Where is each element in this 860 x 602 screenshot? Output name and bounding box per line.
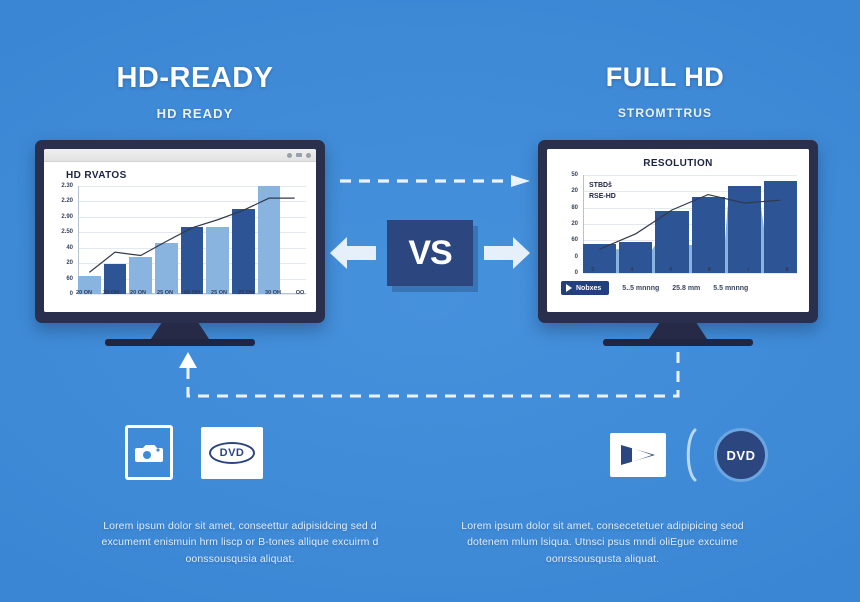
right-screen: RESOLUTION STBDš RSE-HD 502080206000 044…	[547, 149, 809, 312]
right-x-axis-labels: 0448ı8	[575, 267, 805, 273]
right-caption: Lorem ipsum dolor sit amet, consecetetue…	[455, 518, 750, 567]
right-monitor-neck	[649, 323, 707, 339]
right-title: FULL HD	[540, 62, 790, 93]
arrow-right-icon	[484, 234, 530, 272]
x-tick-label: 20 ON	[126, 290, 150, 296]
arrow-left-icon	[330, 234, 376, 272]
right-monitor-bezel: RESOLUTION STBDš RSE-HD 502080206000 044…	[538, 140, 818, 323]
bracket-icon	[682, 428, 698, 482]
vs-badge: VS	[387, 220, 473, 286]
x-tick-label: 8	[769, 267, 805, 273]
bottom-dashed-connector	[170, 352, 690, 404]
dvd-card-label: DVD	[209, 442, 256, 464]
play-glyph	[618, 442, 658, 468]
right-chart: RESOLUTION STBDš RSE-HD 502080206000 044…	[547, 149, 809, 312]
x-tick-label: 25 ON	[234, 290, 258, 296]
x-tick-label: 66 OH	[180, 290, 204, 296]
right-chart-title: RESOLUTION	[555, 158, 801, 169]
footer-note-1: 5..5 mnnng	[622, 285, 659, 292]
right-header: FULL HD STROMTTRUS	[540, 62, 790, 120]
x-tick-label: OO	[288, 290, 312, 296]
x-tick-label: 0	[575, 267, 611, 273]
vs-comparison-group: VS	[330, 160, 530, 300]
left-icon-row: DVD	[125, 425, 263, 480]
left-chart: HD RVATOS 2.302.202.902.504020600 20 ON3…	[44, 162, 316, 312]
left-title: HD-READY	[60, 62, 330, 95]
dvd-disc-label: DVD	[727, 448, 756, 463]
left-caption: Lorem ipsum dolor sit amet, conseettur a…	[95, 518, 385, 567]
x-tick-label: 25 ON	[153, 290, 177, 296]
left-chart-title: HD RVATOS	[66, 170, 310, 181]
x-tick-label: 25 ON	[207, 290, 231, 296]
x-tick-label: 20 ON	[72, 290, 96, 296]
notes-button-label: Nobxes	[576, 285, 601, 292]
minimize-icon[interactable]	[296, 153, 302, 157]
left-screen: HD RVATOS 2.302.202.902.504020600 20 ON3…	[44, 149, 316, 312]
play-icon	[566, 284, 572, 292]
left-header: HD-READY HD READY	[60, 62, 330, 121]
browser-chrome	[44, 149, 316, 162]
footer-note-3: 5.5 mnnng	[713, 285, 748, 292]
x-tick-label: ı	[730, 267, 766, 273]
left-plot-area: 2.302.202.902.504020600	[50, 186, 310, 294]
left-subtitle: HD READY	[60, 106, 330, 121]
play-icon[interactable]	[610, 433, 666, 477]
dvd-card-icon[interactable]: DVD	[201, 427, 263, 479]
x-tick-label: 8	[691, 267, 727, 273]
trend-line	[50, 186, 310, 294]
close-icon[interactable]	[306, 153, 311, 158]
left-monitor-bezel: HD RVATOS 2.302.202.902.504020600 20 ON3…	[35, 140, 325, 323]
right-chart-footer: Nobxes 5..5 mnnng 25.8 mm 5.5 mnnng	[561, 281, 748, 295]
left-monitor-neck	[151, 323, 209, 339]
trend-line	[555, 175, 801, 273]
dvd-disc-icon[interactable]: DVD	[714, 428, 768, 482]
notes-button[interactable]: Nobxes	[561, 281, 609, 295]
x-tick-label: 30 OH	[261, 290, 285, 296]
gear-icon[interactable]	[287, 153, 292, 158]
footer-note-2: 25.8 mm	[672, 285, 700, 292]
left-monitor: HD RVATOS 2.302.202.902.504020600 20 ON3…	[35, 140, 325, 346]
right-icon-row: DVD	[610, 428, 768, 482]
x-tick-label: 4	[653, 267, 689, 273]
x-tick-label: 4	[614, 267, 650, 273]
x-tick-label: 30 OH	[99, 290, 123, 296]
camera-icon[interactable]	[125, 425, 173, 480]
left-monitor-base	[105, 339, 255, 346]
left-x-axis-labels: 20 ON30 OH20 ON25 ON66 OH25 ON25 ON30 OH…	[72, 290, 312, 296]
right-monitor: RESOLUTION STBDš RSE-HD 502080206000 044…	[538, 140, 818, 346]
camera-glyph	[135, 442, 163, 464]
right-subtitle: STROMTTRUS	[540, 106, 790, 120]
right-monitor-base	[603, 339, 753, 346]
gridline	[583, 273, 797, 274]
right-plot-area: STBDš RSE-HD 502080206000	[555, 175, 801, 273]
vs-label: VS	[408, 236, 451, 270]
infographic-canvas: HD-READY HD READY FULL HD STROMTTRUS HD …	[0, 0, 860, 602]
